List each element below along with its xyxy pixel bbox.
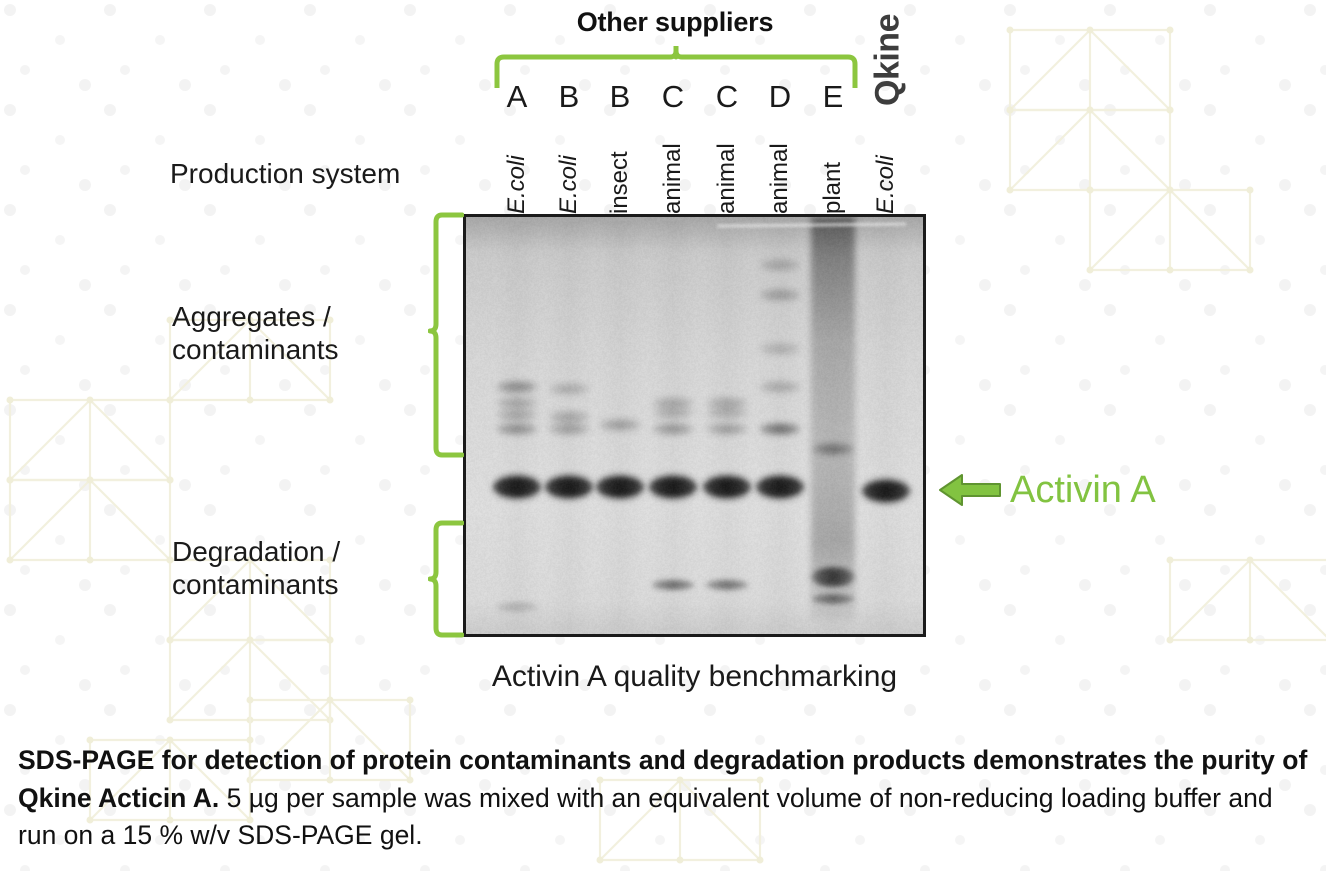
lane-system-text-6: plant xyxy=(821,162,845,214)
lane-letters-row: ABBCCDE xyxy=(463,80,926,116)
production-system-label: Production system xyxy=(170,158,400,190)
lane-system-text-5: animal xyxy=(768,143,792,214)
lane-system-3: animal xyxy=(662,116,684,214)
activin-a-callout: Activin A xyxy=(938,462,1156,518)
lane-system-text-7: E.coli xyxy=(874,155,898,214)
degradation-label-line1: Degradation / xyxy=(172,535,340,568)
lane-system-5: animal xyxy=(769,116,791,214)
gel-canvas xyxy=(466,217,923,634)
lane-letter-1: B xyxy=(552,80,586,114)
lane-systems-row: E.coliE.coliinsectanimalanimalanimalplan… xyxy=(463,116,926,214)
lane-system-text-1: E.coli xyxy=(557,155,581,214)
degradation-label: Degradation / contaminants xyxy=(172,535,340,601)
aggregates-label-line1: Aggregates / xyxy=(172,300,339,333)
aggregates-label: Aggregates / contaminants xyxy=(172,300,339,366)
lane-system-text-3: animal xyxy=(661,143,685,214)
lane-letter-6: E xyxy=(816,80,850,114)
lane-system-text-2: insect xyxy=(608,151,632,214)
lane-letter-5: D xyxy=(763,80,797,114)
lane-system-text-4: animal xyxy=(715,143,739,214)
lane-letter-3: C xyxy=(656,80,690,114)
lane-letter-2: B xyxy=(603,80,637,114)
lane-system-7: E.coli xyxy=(875,116,897,214)
lane-letter-4: C xyxy=(710,80,744,114)
other-suppliers-title: Other suppliers xyxy=(495,7,855,38)
aggregates-label-line2: contaminants xyxy=(172,333,339,366)
sds-page-gel-image xyxy=(463,214,926,637)
lane-system-0: E.coli xyxy=(506,116,528,214)
aggregates-bracket xyxy=(428,212,464,458)
lane-system-2: insect xyxy=(609,116,631,214)
lane-system-4: animal xyxy=(716,116,738,214)
degradation-bracket xyxy=(428,520,464,638)
lane-system-1: E.coli xyxy=(558,116,580,214)
gel-caption: Activin A quality benchmarking xyxy=(463,660,926,694)
figure-legend: SDS-PAGE for detection of protein contam… xyxy=(18,742,1313,855)
activin-a-text: Activin A xyxy=(1010,471,1156,509)
left-arrow-icon xyxy=(938,473,1002,507)
lane-letter-0: A xyxy=(500,80,534,114)
lane-system-6: plant xyxy=(822,116,844,214)
lane-system-text-0: E.coli xyxy=(505,155,529,214)
degradation-label-line2: contaminants xyxy=(172,568,340,601)
figure-root: Other suppliers Qkine ABBCCDE E.coliE.co… xyxy=(0,0,1326,871)
